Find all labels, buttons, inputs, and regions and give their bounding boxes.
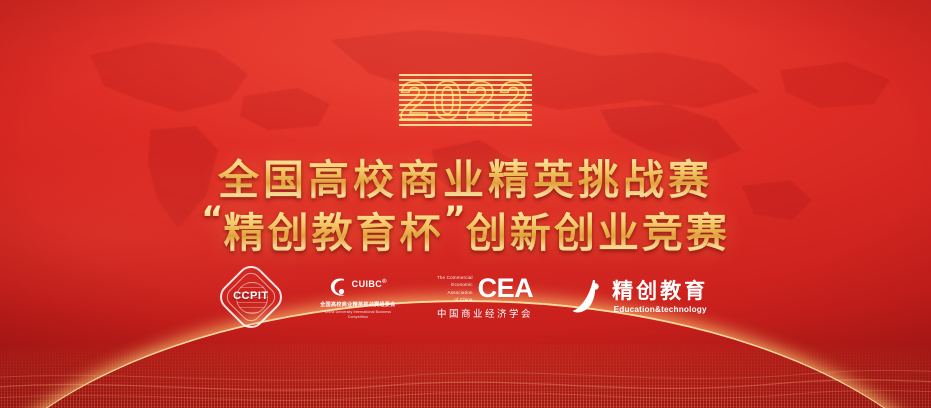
jc-en-name: Education&technology (614, 305, 707, 314)
registered-mark: ® (382, 279, 387, 285)
competition-name: 创新创业竞赛 (466, 209, 730, 257)
year-text: 2022 (399, 71, 531, 131)
ccpit-wordmark: CCPIT (223, 290, 279, 302)
cuibc-cn-name: 全国高校商业精英挑战赛组委会 (317, 302, 399, 310)
logo-cuibc: CUIBC® 全国高校商业精英挑战赛组委会 China University I… (317, 269, 399, 325)
cea-en-name: The Commercial Economic Association of C… (437, 274, 473, 302)
title-line-2: “精创教育杯”创新创业竞赛 (0, 199, 931, 259)
jc-cn-name: 精创教育 (612, 280, 708, 302)
cea-cn-name: 中国商业经济学会 (437, 306, 533, 320)
cuibc-swoosh-icon (329, 276, 349, 298)
logo-jingchuang-education: 精创教育 Education&technology (571, 269, 708, 325)
cea-wordmark: CEA (478, 275, 534, 302)
quote-open: “ (201, 199, 223, 239)
sponsor-logo-row: CCPIT CUIBC® 全国高校商业精英挑战赛组委会 China Univer… (0, 268, 931, 326)
cuibc-wordmark: CUIBC® (352, 279, 387, 289)
quote-close: ” (444, 199, 466, 239)
swoosh-check-icon (571, 277, 603, 317)
title-line-1: 全国高校商业精英挑战赛 (0, 146, 931, 206)
logo-ccpit: CCPIT (223, 269, 279, 325)
logo-cea: The Commercial Economic Association of C… (437, 269, 533, 325)
year-heading: 2022 (0, 74, 931, 128)
cup-name: 精创教育杯 (224, 209, 444, 257)
cuibc-en-name: China University International Business … (317, 310, 399, 321)
poster-banner: 2022 全国高校商业精英挑战赛 “精创教育杯”创新创业竞赛 CCPIT (0, 0, 931, 408)
